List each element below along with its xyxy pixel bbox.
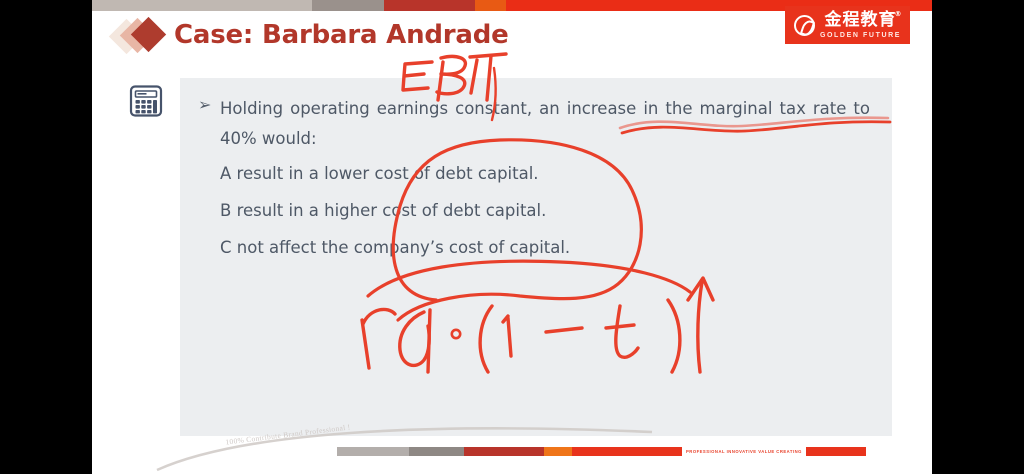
top-band-segment-0	[92, 0, 312, 11]
brand-logo: 金程教育® GOLDEN FUTURE	[785, 6, 910, 44]
logo-chinese-name: 金程教育®	[824, 12, 896, 29]
question-bullet: ➢ Holding operating earnings constant, a…	[198, 94, 870, 154]
footer-bar-4	[572, 447, 682, 456]
footer-swoosh	[92, 404, 932, 474]
bullet-arrow-icon: ➢	[198, 94, 220, 154]
calculator-icon	[129, 85, 163, 117]
content-panel: ➢ Holding operating earnings constant, a…	[180, 78, 892, 436]
top-band-segment-1	[312, 0, 384, 11]
footer-bar-2	[464, 447, 544, 456]
top-band-segment-2	[384, 0, 475, 11]
choice-b: B result in a higher cost of debt capita…	[220, 201, 546, 220]
footer-bar-5	[806, 447, 866, 456]
diamond-bullet-icon	[114, 18, 180, 52]
letterbox-right	[932, 0, 1024, 474]
logo-wordmark: 金程教育® GOLDEN FUTURE	[820, 12, 901, 39]
choice-a: A result in a lower cost of debt capital…	[220, 164, 539, 183]
logo-english-name: GOLDEN FUTURE	[820, 32, 901, 39]
footer-bar-1	[409, 447, 464, 456]
footer-color-bars: PROFESSIONAL INNOVATIVE VALUE CREATING	[337, 447, 866, 456]
page-title: Case: Barbara Andrade	[174, 20, 509, 50]
footer-tagline: PROFESSIONAL INNOVATIVE VALUE CREATING	[682, 449, 806, 454]
choice-c: C not affect the company’s cost of capit…	[220, 238, 570, 257]
question-text: Holding operating earnings constant, an …	[220, 94, 870, 154]
presentation-slide: 金程教育® GOLDEN FUTURE Case: Barbara Andrad…	[92, 0, 932, 474]
letterbox-left	[0, 0, 92, 474]
screenshot-stage: 金程教育® GOLDEN FUTURE Case: Barbara Andrad…	[0, 0, 1024, 474]
footer-bar-3	[544, 447, 572, 456]
top-band-segment-3	[475, 0, 506, 11]
logo-emblem-icon	[794, 15, 815, 36]
slide-title-row: Case: Barbara Andrade	[114, 18, 509, 52]
footer-bar-0	[337, 447, 409, 456]
logo-registered-mark: ®	[894, 11, 902, 18]
